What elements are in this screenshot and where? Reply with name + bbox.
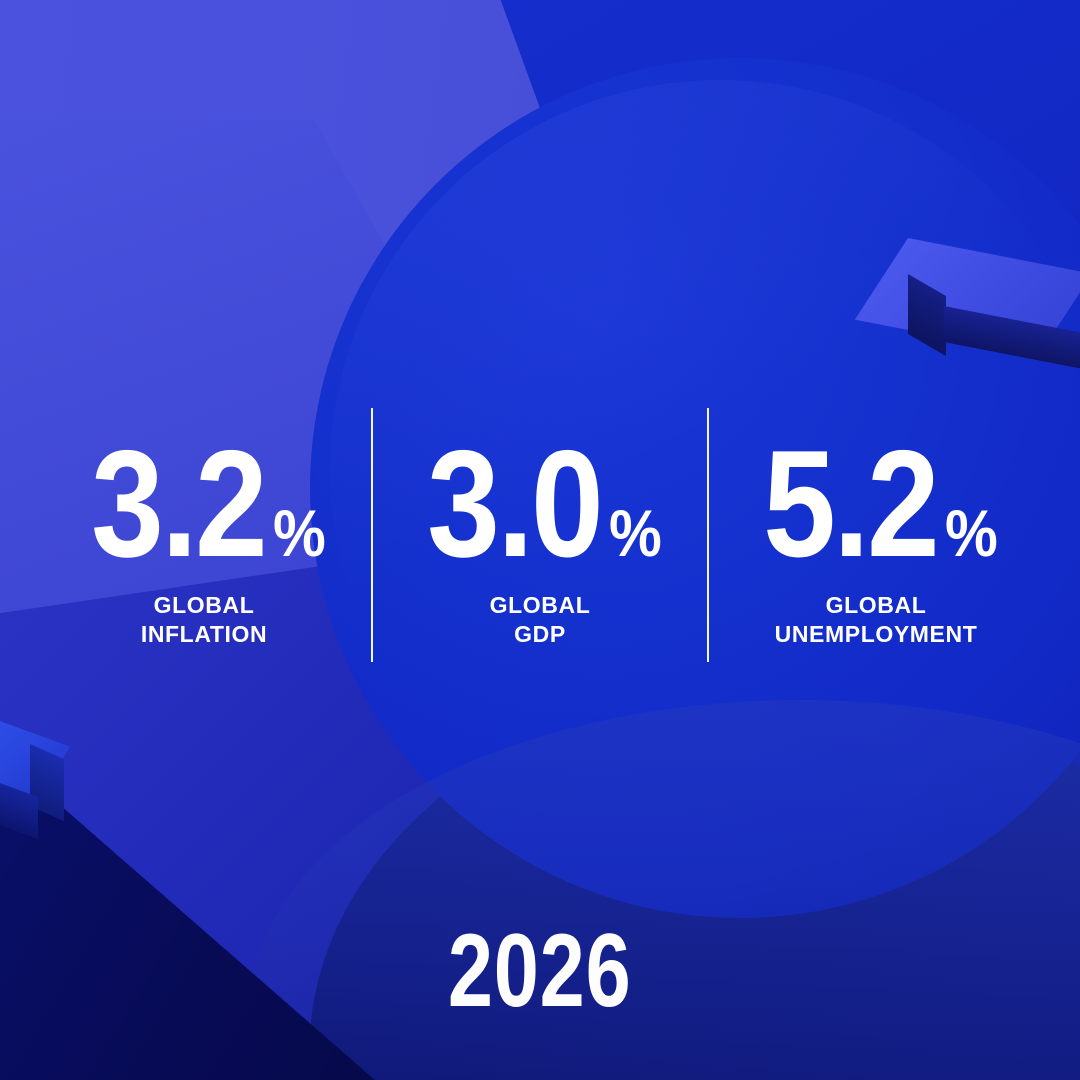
percent-sign: % bbox=[273, 504, 326, 563]
percent-sign: % bbox=[945, 504, 998, 563]
year-heading: 2026 bbox=[0, 912, 1080, 1031]
stat-label-gdp: GLOBAL GDP bbox=[490, 591, 591, 650]
stat-value-gdp: 3.0% bbox=[413, 436, 668, 573]
year-text: 2026 bbox=[448, 912, 632, 1031]
stat-label-line-2: GDP bbox=[514, 621, 566, 647]
infographic-poster: 3.2% GLOBAL INFLATION 3.0% GLOBAL GDP bbox=[0, 0, 1080, 1080]
stat-global-inflation: 3.2% GLOBAL INFLATION bbox=[37, 404, 371, 662]
stat-value-unemployment: 5.2% bbox=[749, 436, 1004, 573]
stat-number: 3.2 bbox=[91, 436, 265, 573]
stat-value-inflation: 3.2% bbox=[77, 436, 332, 573]
statistics-row: 3.2% GLOBAL INFLATION 3.0% GLOBAL GDP bbox=[0, 404, 1080, 662]
stat-label-line-1: GLOBAL bbox=[826, 592, 927, 618]
poster-content: 3.2% GLOBAL INFLATION 3.0% GLOBAL GDP bbox=[0, 0, 1080, 1080]
stat-label-line-2: INFLATION bbox=[141, 621, 267, 647]
percent-sign: % bbox=[609, 504, 662, 563]
stat-global-gdp: 3.0% GLOBAL GDP bbox=[373, 404, 707, 662]
stat-divider-2 bbox=[707, 408, 709, 662]
stat-divider-1 bbox=[371, 408, 373, 662]
stat-label-inflation: GLOBAL INFLATION bbox=[141, 591, 267, 650]
stat-label-line-2: UNEMPLOYMENT bbox=[775, 621, 978, 647]
stat-label-line-1: GLOBAL bbox=[154, 592, 255, 618]
stat-label-unemployment: GLOBAL UNEMPLOYMENT bbox=[775, 591, 978, 650]
stat-label-line-1: GLOBAL bbox=[490, 592, 591, 618]
stat-number: 5.2 bbox=[763, 436, 937, 573]
stat-global-unemployment: 5.2% GLOBAL UNEMPLOYMENT bbox=[709, 404, 1043, 662]
stat-number: 3.0 bbox=[427, 436, 601, 573]
